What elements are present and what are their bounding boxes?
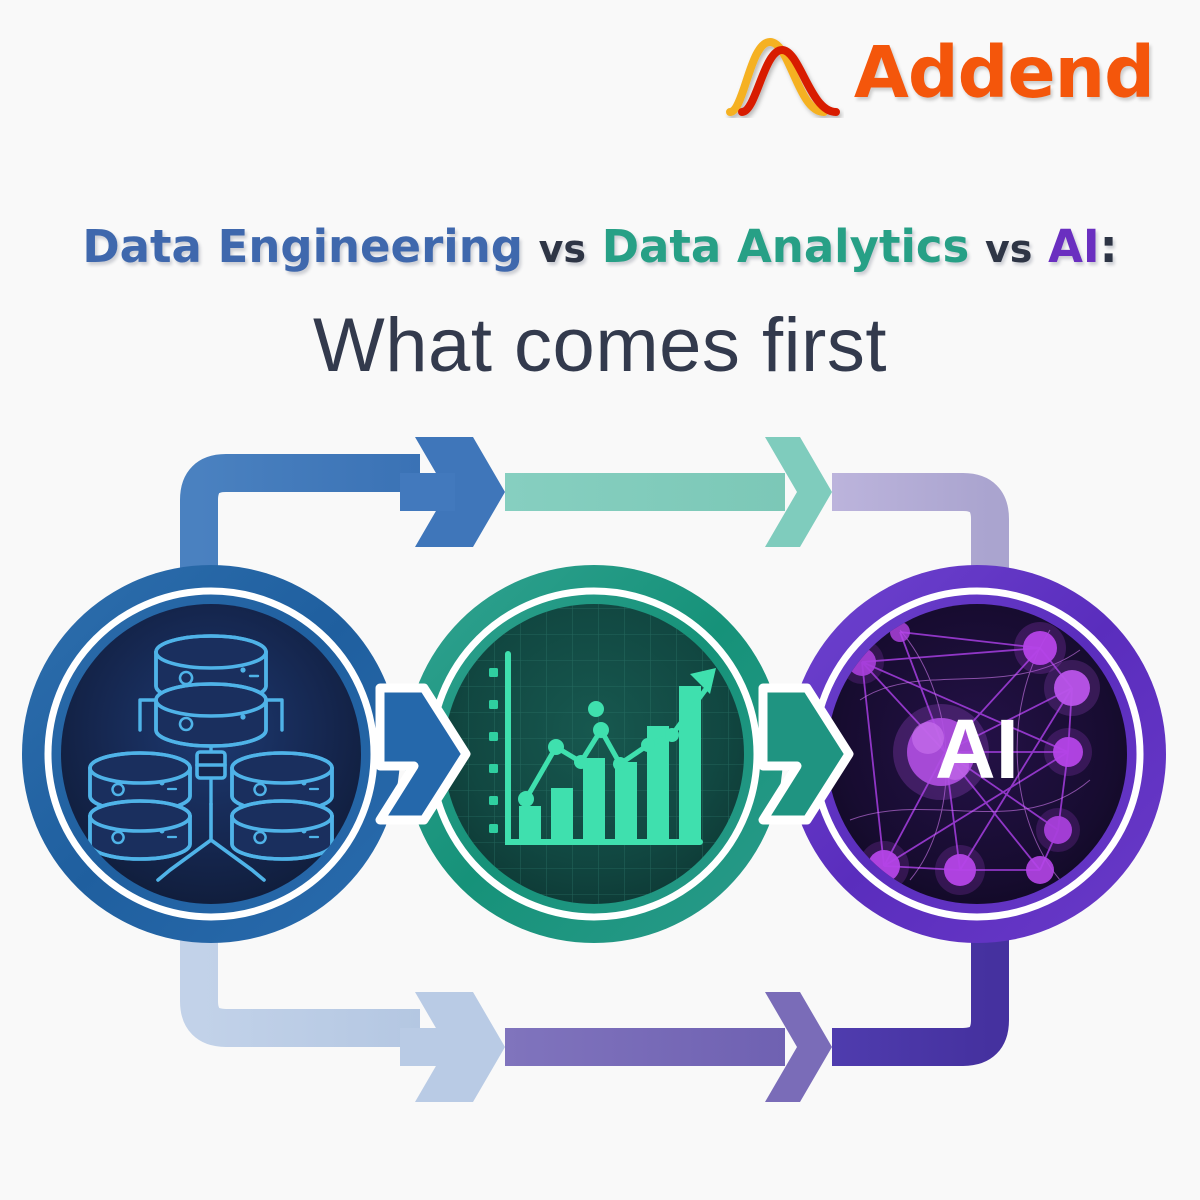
poster-canvas: Addend Data Engineering vs Data Analytic… xyxy=(0,0,1200,1200)
stage-data-engineering[interactable] xyxy=(22,565,400,943)
title-part-ai: AI xyxy=(1048,220,1100,273)
brand-name: Addend xyxy=(854,37,1154,108)
addend-logo[interactable]: Addend xyxy=(724,26,1154,118)
title-part-vs-2: vs xyxy=(985,227,1032,271)
title-part-data-engineering: Data Engineering xyxy=(82,220,523,273)
title-part-colon: : xyxy=(1100,220,1118,273)
page-subtitle: What comes first xyxy=(0,304,1200,388)
addend-peak-curve-logo-icon xyxy=(724,26,844,118)
ai-label: AI xyxy=(935,702,1019,796)
bar-line-chart-icon xyxy=(444,604,744,904)
page-title-line1: Data Engineering vs Data Analytics vs AI… xyxy=(0,222,1200,272)
title-part-vs-1: vs xyxy=(539,227,586,271)
cycle-flow-diagram: AI xyxy=(0,400,1200,1120)
title-part-data-analytics: Data Analytics xyxy=(602,220,970,273)
